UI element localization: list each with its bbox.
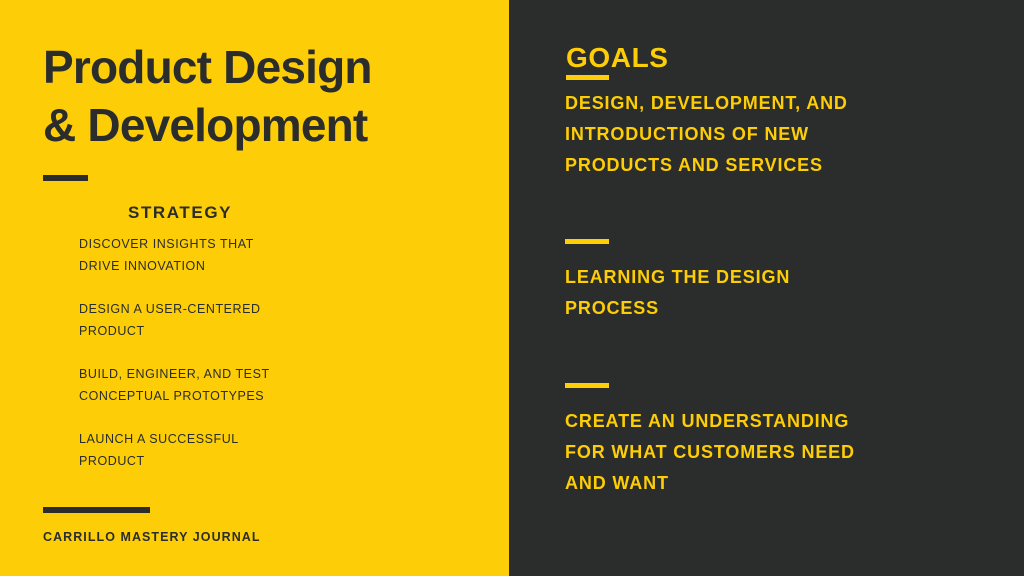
list-item-line: CONCEPTUAL PROTOTYPES (79, 385, 379, 407)
list-item-line: PRODUCT (79, 450, 379, 472)
goal-block: CREATE AN UNDERSTANDING FOR WHAT CUSTOME… (565, 383, 995, 499)
footer-divider-rule (43, 507, 150, 513)
goals-heading-underline (566, 75, 609, 80)
list-item: DISCOVER INSIGHTS THAT DRIVE INNOVATION (79, 233, 379, 277)
goals-heading: GOALS (566, 42, 669, 74)
slide-canvas: Product Design & Development STRATEGY DI… (0, 0, 1024, 576)
page-title: Product Design & Development (43, 38, 473, 154)
goal-text-line: LEARNING THE DESIGN (565, 262, 995, 293)
goal-text: CREATE AN UNDERSTANDING FOR WHAT CUSTOME… (565, 406, 995, 499)
list-item: DESIGN A USER-CENTERED PRODUCT (79, 298, 379, 342)
left-yellow-panel: Product Design & Development STRATEGY DI… (0, 0, 509, 576)
goal-text-line: AND WANT (565, 468, 995, 499)
strategy-heading: STRATEGY (128, 203, 232, 223)
list-item: LAUNCH A SUCCESSFUL PRODUCT (79, 428, 379, 472)
title-divider-rule (43, 175, 88, 181)
goal-text-line: PROCESS (565, 293, 995, 324)
goals-lead-line: DESIGN, DEVELOPMENT, AND (565, 88, 985, 119)
goal-divider-rule (565, 239, 609, 244)
goals-lead-line: INTRODUCTIONS OF NEW (565, 119, 985, 150)
footer-label: CARRILLO MASTERY JOURNAL (43, 530, 261, 544)
list-item-line: LAUNCH A SUCCESSFUL (79, 428, 379, 450)
strategy-list: DISCOVER INSIGHTS THAT DRIVE INNOVATION … (79, 233, 379, 472)
page-title-line-2: & Development (43, 96, 473, 154)
right-dark-panel: GOALS DESIGN, DEVELOPMENT, AND INTRODUCT… (509, 0, 1024, 576)
list-item-line: DESIGN A USER-CENTERED (79, 298, 379, 320)
page-title-line-1: Product Design (43, 38, 473, 96)
list-item-line: PRODUCT (79, 320, 379, 342)
list-item-line: DRIVE INNOVATION (79, 255, 379, 277)
goal-block: LEARNING THE DESIGN PROCESS (565, 239, 995, 324)
goal-text: LEARNING THE DESIGN PROCESS (565, 262, 995, 324)
goals-lead-line: PRODUCTS AND SERVICES (565, 150, 985, 181)
goal-text-line: CREATE AN UNDERSTANDING (565, 406, 995, 437)
list-item-line: BUILD, ENGINEER, AND TEST (79, 363, 379, 385)
goal-text-line: FOR WHAT CUSTOMERS NEED (565, 437, 995, 468)
goal-divider-rule (565, 383, 609, 388)
goals-lead-text: DESIGN, DEVELOPMENT, AND INTRODUCTIONS O… (565, 88, 985, 181)
list-item: BUILD, ENGINEER, AND TEST CONCEPTUAL PRO… (79, 363, 379, 407)
list-item-line: DISCOVER INSIGHTS THAT (79, 233, 379, 255)
